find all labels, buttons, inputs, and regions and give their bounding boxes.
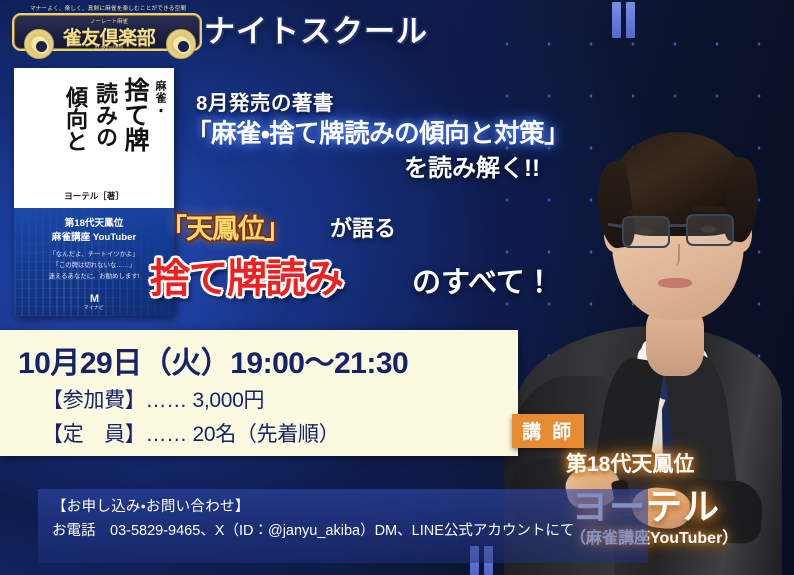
headline-read: を読み解く!!: [404, 148, 540, 183]
logo-tagline: マナーよく、楽しく、真剣に麻雀を楽しむことができる空間: [20, 4, 196, 12]
flower-emblem-icon: [166, 29, 196, 59]
book-title-line3: 読みの: [94, 82, 116, 148]
accent-bar-decoration: [626, 2, 635, 38]
event-datetime: 10月29日（火）19:00〜21:30: [18, 338, 408, 382]
publisher-name: マイナビ: [14, 305, 174, 311]
event-capacity-label: 【定 員】……: [42, 423, 187, 446]
nose: [668, 244, 680, 266]
poster-root: マナーよく、楽しく、真剣に麻雀を楽しむことができる空間 ノーレート麻雀 雀友倶楽…: [0, 0, 794, 575]
headline-sutehai: 捨て牌読み: [150, 246, 343, 304]
event-capacity-value: 20名（先着順）: [192, 423, 339, 446]
event-capacity-row: 【定 員】…… 20名（先着順）: [42, 418, 339, 448]
event-info-panel: 10月29日（火）19:00〜21:30 【参加費】…… 3,000円 【定 員…: [0, 330, 518, 456]
headline-book-title: 「麻雀・捨て牌読みの傾向と対策」: [186, 113, 569, 150]
accent-bar-decoration: [612, 2, 621, 38]
flower-emblem-icon: [24, 29, 54, 59]
book-title-line4: 傾向と: [64, 86, 86, 152]
event-fee-value: 3,000円: [192, 389, 264, 412]
mouth: [658, 278, 692, 288]
book-credit-line2: 麻雀講座 YouTuber: [14, 231, 174, 245]
club-logo: マナーよく、楽しく、真剣に麻雀を楽しむことができる空間 ノーレート麻雀 雀友倶楽…: [6, 2, 206, 54]
headline-tenhou: 「天鳳位」: [160, 207, 290, 246]
book-title-line1: 麻雀・: [155, 80, 166, 116]
eyeglasses-bridge: [669, 224, 687, 227]
book-credit: 第18代天鳳位 麻雀講座 YouTuber: [14, 208, 174, 245]
book-cover-top: 麻雀・ 捨て牌 読みの 傾向と ヨーテル［著］: [14, 68, 174, 208]
headline-subtitle: 8月発売の著書: [196, 86, 334, 116]
book-title-line2: 捨て牌: [123, 77, 148, 152]
event-fee-row: 【参加費】…… 3,000円: [42, 384, 264, 414]
headline-katari: が語る: [330, 211, 396, 243]
instructor-badge: 講 師: [512, 414, 584, 448]
book-credit-line1: 第18代天鳳位: [14, 217, 174, 231]
contact-heading: 【お申し込み・お問い合わせ】: [52, 495, 250, 516]
page-title: ナイトスクール: [204, 6, 428, 51]
event-fee-label: 【参加費】……: [42, 389, 187, 412]
eyeglasses-lens-left: [622, 216, 670, 248]
headline-subete: のすべて！: [412, 259, 554, 301]
contact-body: お電話 03-5829-9465、X（ID：@janyu_akiba）DM、LI…: [52, 521, 574, 542]
instructor-rank: 第18代天鳳位: [566, 448, 694, 478]
contact-panel: 【お申し込み・お問い合わせ】 お電話 03-5829-9465、X（ID：@ja…: [38, 489, 648, 563]
logo-plate: ノーレート麻雀 雀友倶楽部 in akihabara: [12, 13, 202, 51]
eyeglasses-lens-right: [686, 214, 734, 246]
book-author: ヨーテル［著］: [14, 190, 174, 202]
